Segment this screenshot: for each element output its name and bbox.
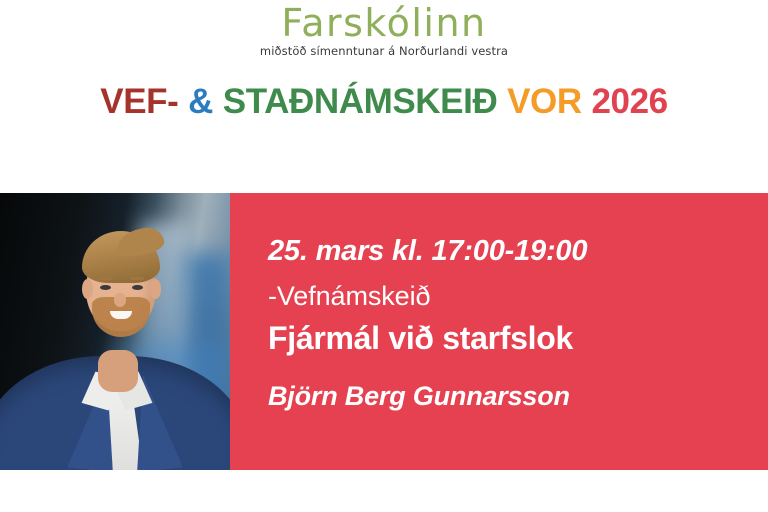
event-format: -Vefnámskeið	[268, 281, 430, 312]
portrait-eye-left	[100, 285, 111, 290]
portrait-eyebrow-left	[98, 277, 112, 280]
portrait-ear-right	[150, 279, 161, 299]
brand-logo-wordmark: Farskólinn	[0, 0, 768, 43]
page-title: VEF- & STAÐNÁMSKEIÐ VOR 2026	[0, 82, 768, 122]
portrait-neck	[98, 350, 138, 392]
footer-whitespace	[0, 470, 768, 512]
event-info-panel: 25. mars kl. 17:00-19:00 -Vefnámskeið Fj…	[230, 193, 768, 470]
brand-header: Farskólinn miðstöð símenntunar á Norðurl…	[0, 0, 768, 62]
speaker-portrait-photo	[0, 193, 230, 470]
title-part-year: 2026	[591, 82, 667, 121]
event-course-title: Fjármál við starfslok	[268, 320, 573, 357]
brand-tagline: miðstöð símenntunar á Norðurlandi vestra	[0, 44, 768, 58]
event-date-time: 25. mars kl. 17:00-19:00	[268, 235, 587, 268]
content-band: 25. mars kl. 17:00-19:00 -Vefnámskeið Fj…	[0, 193, 768, 470]
course-promo-poster: Farskólinn miðstöð símenntunar á Norðurl…	[0, 0, 768, 512]
title-part-vor: VOR	[507, 82, 582, 121]
event-speaker-name: Björn Berg Gunnarsson	[268, 381, 570, 412]
portrait-nose	[114, 293, 126, 307]
portrait-ear-left	[82, 279, 93, 299]
title-part-vef: VEF-	[100, 82, 178, 121]
title-part-ampersand: &	[188, 82, 213, 121]
portrait-eyebrow-right	[130, 277, 144, 280]
title-part-stadnamskeid: STAÐNÁMSKEIÐ	[223, 82, 498, 121]
portrait-eye-right	[132, 285, 143, 290]
